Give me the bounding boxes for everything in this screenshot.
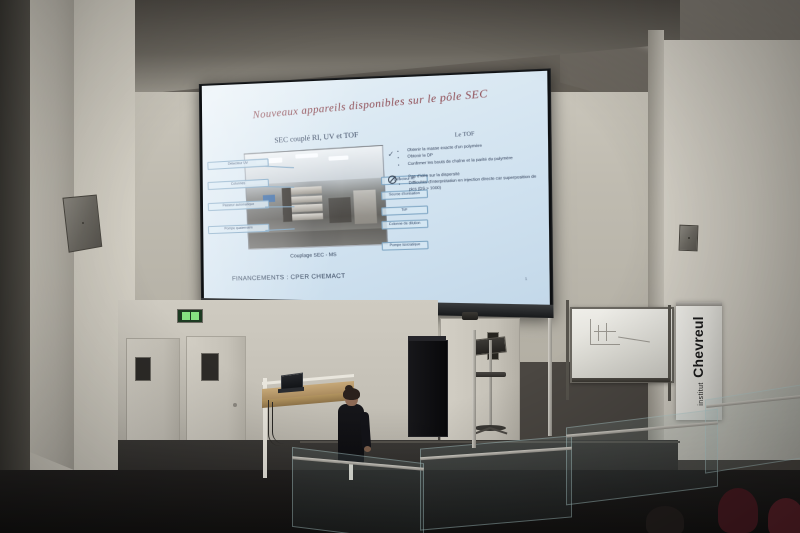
cart-pole	[489, 340, 492, 430]
check-mark-icon: ✓	[388, 151, 395, 159]
presenter-hand	[364, 446, 371, 452]
door-window	[135, 357, 151, 381]
black-equipment-cabinet	[408, 340, 448, 437]
cons-block: Pas d'idée sur la dispersité Difficultés…	[399, 167, 538, 193]
whiteboard-tray	[572, 378, 670, 382]
pros-list: Obtenir la masse exacte d'un polymère Ob…	[397, 139, 536, 167]
banner-institut-label: institut	[698, 382, 705, 405]
emergency-exit-sign	[177, 309, 203, 323]
door-stage-right[interactable]	[440, 318, 520, 442]
cart-shelf	[473, 372, 506, 377]
right-wall-edge	[648, 30, 664, 460]
screen-surface: Nouveaux appareils disponibles sur le pô…	[202, 71, 550, 305]
photo-label-colonne-dilution: Colonne de dilution	[381, 219, 428, 230]
railing-post	[472, 330, 476, 448]
left-wall-shadow	[0, 0, 30, 500]
photo-label-tof: ToF	[381, 205, 428, 216]
door-window	[201, 353, 219, 381]
seat	[718, 488, 758, 533]
pros-block: ✓ Obtenir la masse exacte d'un polymère …	[397, 139, 536, 167]
seat	[768, 498, 800, 533]
photo-caption: Couplage SEC - MS	[248, 251, 382, 261]
seat	[646, 506, 684, 533]
slide-page-number: 1	[524, 276, 526, 280]
cons-list: Pas d'idée sur la dispersité Difficultés…	[399, 167, 538, 193]
presenter-hair-bun	[345, 385, 353, 392]
banner-chevreul-label: Chevreul	[690, 316, 706, 378]
photo-label-pompe-isocratique: Pompe isocratique	[381, 240, 428, 250]
mobile-whiteboard	[570, 307, 674, 383]
financements-text: FINANCEMENTS : CPER CHEMACT	[232, 272, 346, 282]
whiteboard-leg-right	[668, 305, 671, 401]
banner-top-bar	[676, 302, 722, 306]
projection-screen: Nouveaux appareils disponibles sur le pô…	[199, 68, 554, 318]
door-knob[interactable]	[233, 403, 237, 407]
railing-post	[548, 318, 552, 436]
ceiling-mounted-device	[462, 312, 478, 320]
wall-speaker-left	[62, 195, 102, 253]
whiteboard-leg-left	[566, 300, 569, 400]
slide-right-column: Le TOF ✓ Obtenir la masse exacte d'un po…	[397, 127, 539, 200]
presentation-slide: Nouveaux appareils disponibles sur le pô…	[202, 71, 550, 305]
wall-speaker-right	[679, 225, 699, 252]
banner-text-group: institut Chevreul	[690, 316, 708, 405]
cable-bundle	[272, 402, 285, 444]
lecture-hall-photo: Nouveaux appareils disponibles sur le pô…	[0, 0, 800, 533]
slide-title: Nouveaux appareils disponibles sur le pô…	[202, 83, 548, 126]
